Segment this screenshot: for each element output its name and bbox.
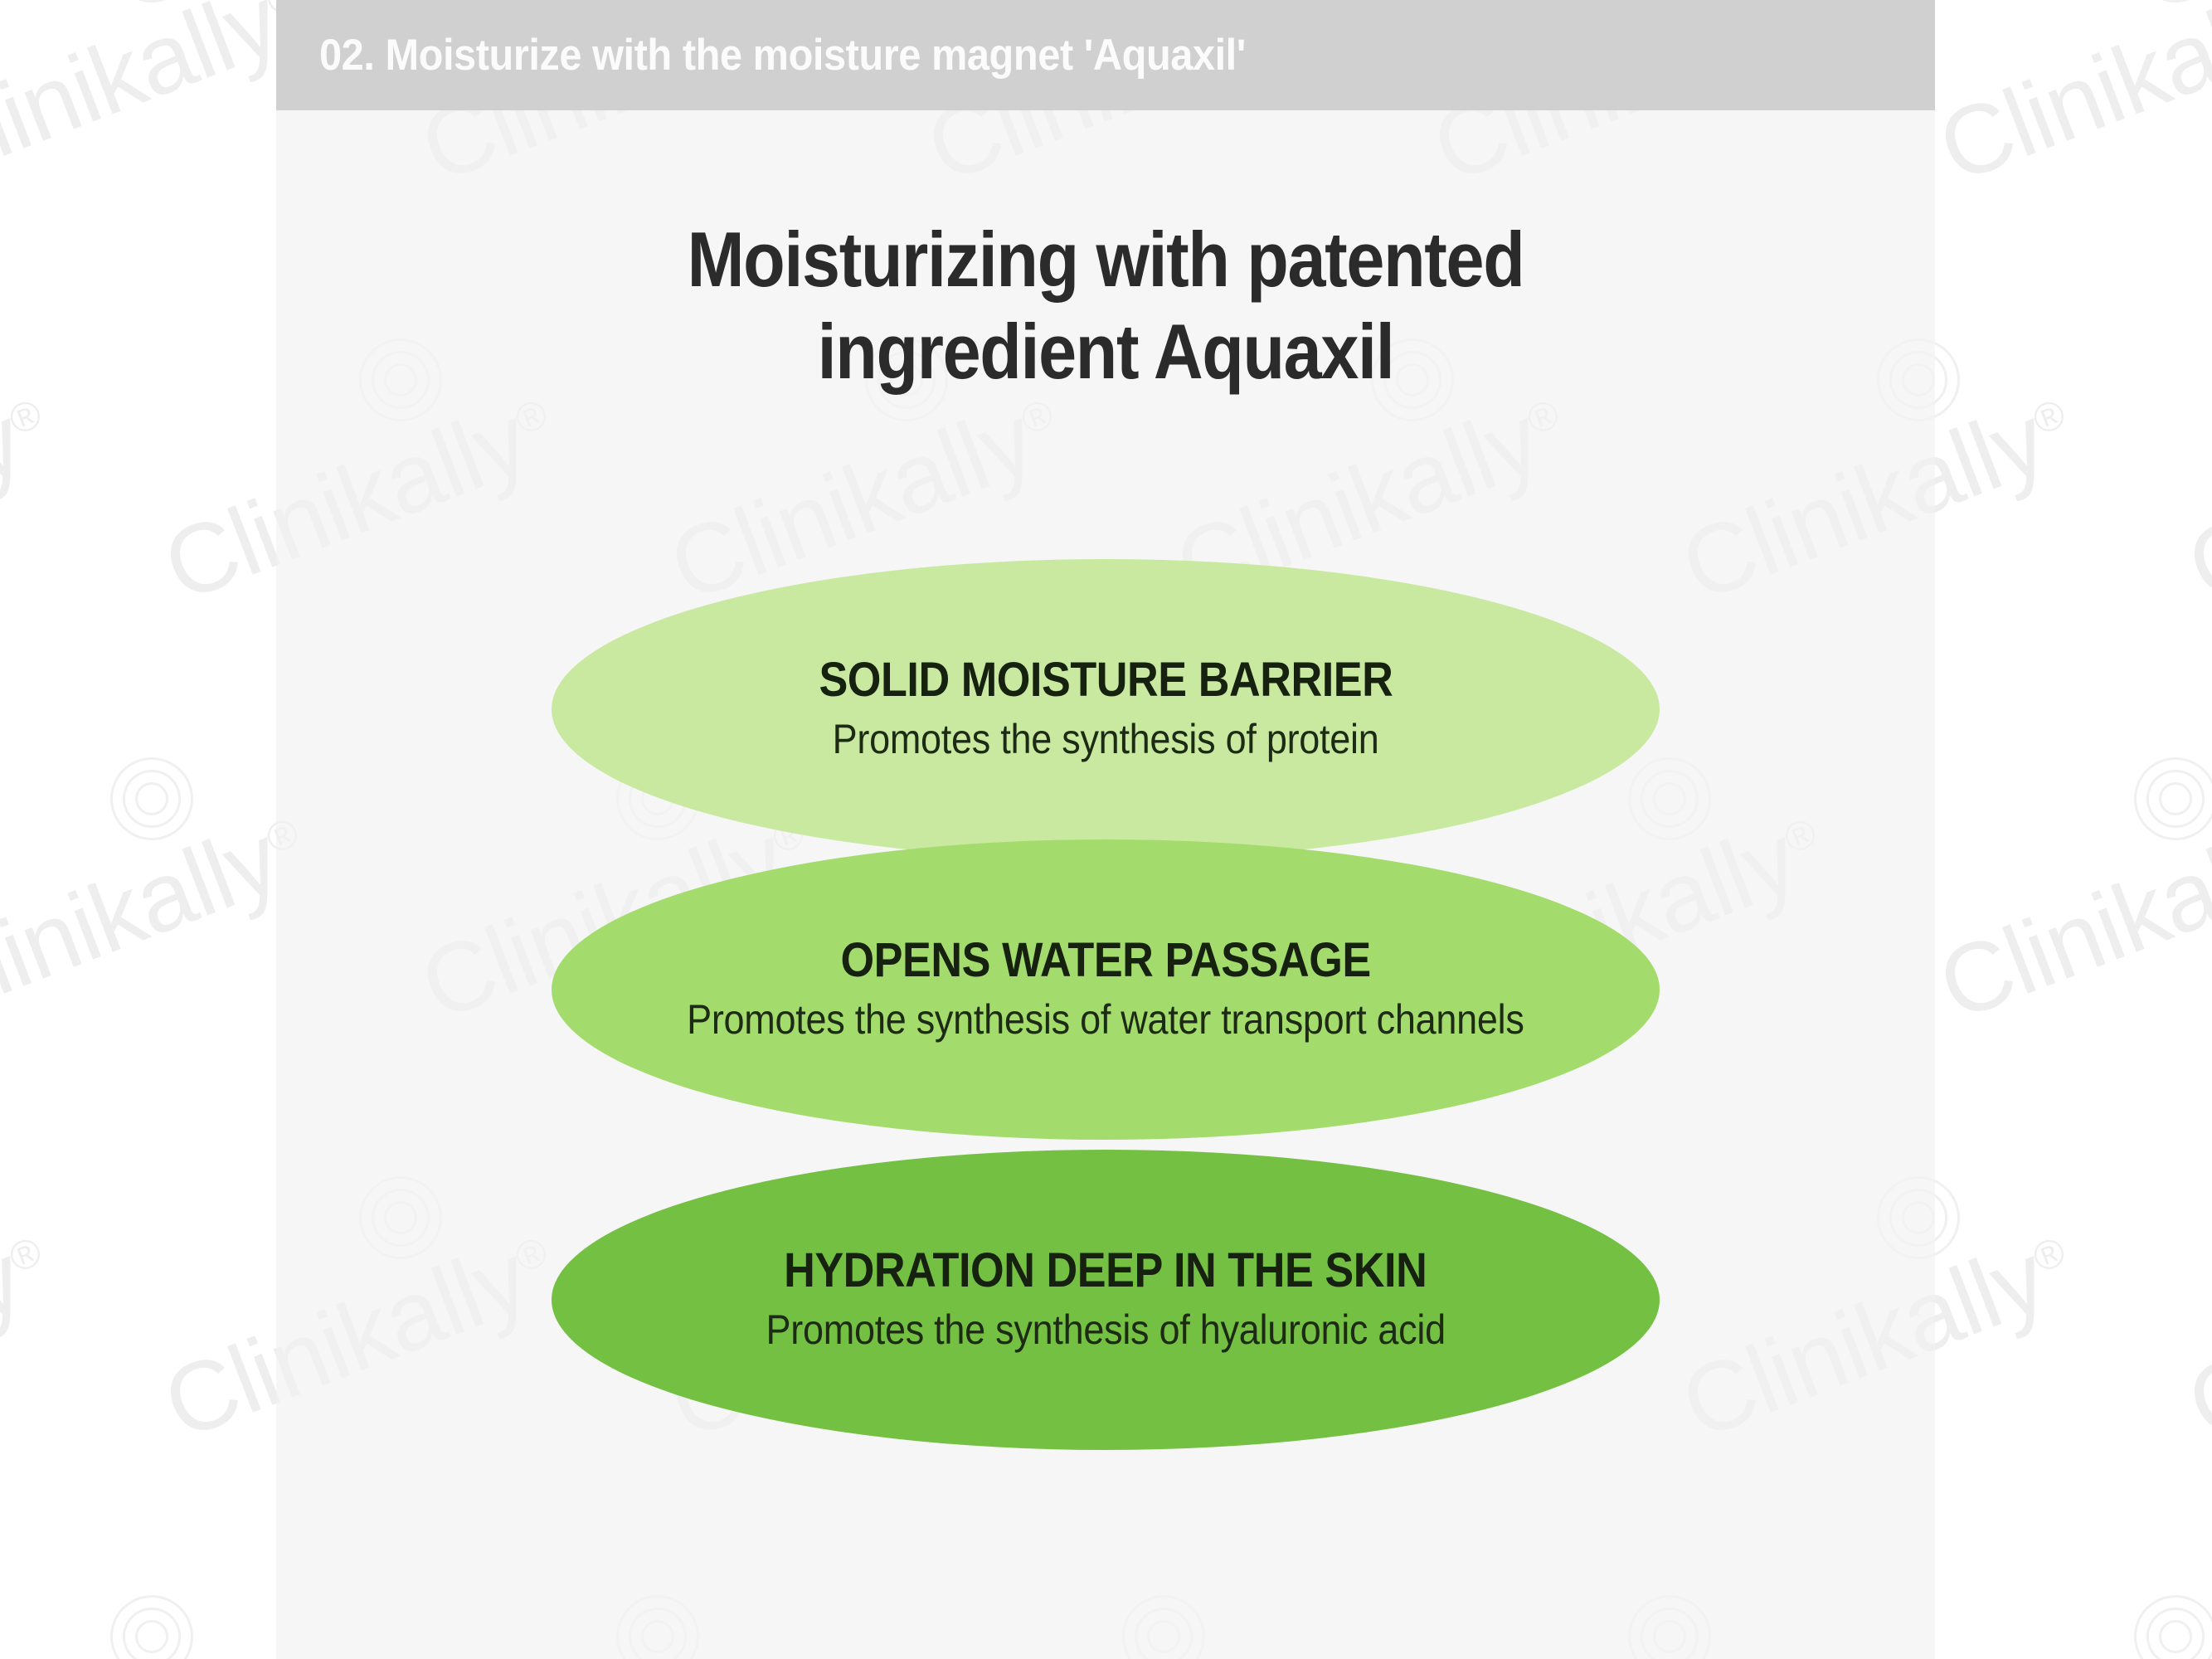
- watermark-text: Clinikally®: [0, 791, 322, 1043]
- watermark-text: Clinikally®: [2173, 1210, 2212, 1462]
- benefit-ellipse-3: HYDRATION DEEP IN THE SKIN Promotes the …: [552, 1150, 1660, 1450]
- benefit-subtitle-1: Promotes the synthesis of protein: [833, 713, 1379, 766]
- watermark-text: Clinikally®: [1924, 1629, 2212, 1659]
- benefit-heading-3: HYDRATION DEEP IN THE SKIN: [784, 1243, 1427, 1299]
- watermark-ring-icon: [2134, 757, 2212, 840]
- watermark-text: Clinikally®: [0, 0, 322, 205]
- watermark-ring-icon: [110, 757, 193, 840]
- header-title: 02. Moisturize with the moisture magnet …: [319, 30, 1246, 80]
- benefit-subtitle-2: Promotes the synthesis of water transpor…: [687, 993, 1524, 1047]
- watermark-text: Clinikally®: [0, 1629, 322, 1659]
- benefit-ellipse-1: SOLID MOISTURE BARRIER Promotes the synt…: [552, 559, 1660, 859]
- watermark-ring-icon: [2134, 1595, 2212, 1659]
- watermark-ring-icon: [2146, 770, 2205, 828]
- watermark-ring-icon: [135, 782, 168, 815]
- watermark-ring-icon: [2159, 1620, 2192, 1653]
- slide-canvas: Clinikally®Clinikally®Clinikally®Clinika…: [0, 0, 2212, 1659]
- benefit-heading-1: SOLID MOISTURE BARRIER: [819, 652, 1393, 708]
- benefit-subtitle-3: Promotes the synthesis of hyaluronic aci…: [766, 1303, 1445, 1357]
- benefit-ellipse-2: OPENS WATER PASSAGE Promotes the synthes…: [552, 839, 1660, 1140]
- benefit-heading-2: OPENS WATER PASSAGE: [840, 932, 1370, 989]
- watermark-ring-icon: [110, 1595, 193, 1659]
- watermark-text: Clinikally®: [1924, 791, 2212, 1043]
- watermark-ring-icon: [2159, 782, 2192, 815]
- watermark-ring-icon: [135, 1620, 168, 1653]
- watermark-ring-icon: [2134, 0, 2212, 2]
- content-panel: Clinikally®Clinikally®Clinikally®Clinika…: [276, 0, 1935, 1659]
- page-title-line-1: Moisturizing with patented: [376, 214, 1835, 306]
- watermark-text: Clinikally®: [0, 1210, 65, 1462]
- header-band: 02. Moisturize with the moisture magnet …: [276, 0, 1935, 110]
- page-title-line-2: ingredient Aquaxil: [376, 306, 1835, 398]
- watermark-ring-icon: [110, 0, 193, 2]
- watermark-text: Clinikally®: [1924, 0, 2212, 205]
- watermark-ring-icon: [123, 1608, 181, 1659]
- watermark-ring-icon: [123, 770, 181, 828]
- watermark-text: Clinikally®: [2173, 372, 2212, 624]
- watermark-text: Clinikally®: [0, 372, 65, 624]
- page-title: Moisturizing with patented ingredient Aq…: [276, 214, 1935, 398]
- watermark-ring-icon: [2146, 1608, 2205, 1659]
